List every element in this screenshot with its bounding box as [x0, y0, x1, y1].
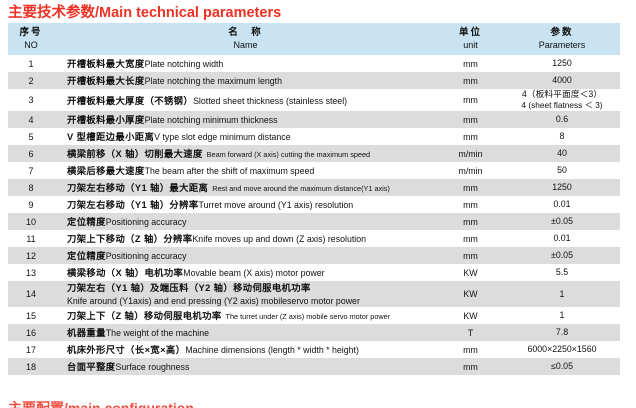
table-row: 7横梁后移最大速度The beam after the shift of max… [8, 162, 620, 179]
parameter-value: 7.8 [504, 327, 620, 338]
parameter-value: 40 [504, 148, 620, 159]
cell-name: 机器重量The weight of the machine [54, 324, 437, 341]
cell-unit: mm [437, 247, 504, 264]
table-row: 15刀架上下（Z 轴）移动伺服电机功率The turret under (Z a… [8, 307, 620, 324]
name-english: Slotted sheet thickness (stainless steel… [193, 96, 347, 106]
name-english: Rest and move around the maximum distanc… [212, 184, 390, 193]
table-row: 2开槽板料最大长度Plate notching the maximum leng… [8, 72, 620, 89]
column-header-parameters-en: Parameters [504, 39, 620, 51]
name-english: Beam forward (X axis) cutting the maximu… [207, 150, 370, 159]
name-english: The turret under (Z axis) mobile servo m… [226, 312, 391, 321]
technical-parameters-table: 序号 NO 名 称 Name 单位 unit 参数 Parameters 1开槽… [8, 23, 620, 375]
name-chinese: 刀架左右移动（Y1 轴）分辨率 [67, 200, 199, 210]
parameter-value: 1 [504, 289, 620, 300]
parameter-value: 1250 [504, 182, 620, 193]
name-chinese: 台面平整度 [67, 362, 116, 372]
name-english: Machine dimensions (length * width * hei… [185, 345, 359, 355]
cell-name: 横梁前移（X 轴）切削最大速度Beam forward (X axis) cut… [54, 145, 437, 162]
parameter-value: 0.01 [504, 199, 620, 210]
cell-no: 4 [8, 111, 54, 128]
name-chinese: 机床外形尺寸（长×宽×高） [67, 345, 185, 355]
cell-no: 3 [8, 89, 54, 111]
parameter-value: 0.01 [504, 233, 620, 244]
name-chinese: 开槽板料最大厚度（不锈钢） [67, 96, 193, 106]
parameter-value: 1 [504, 310, 620, 321]
cell-parameter: 1 [504, 307, 620, 324]
cell-parameter: ±0.05 [504, 247, 620, 264]
cell-no: 12 [8, 247, 54, 264]
column-header-unit-en: unit [437, 39, 504, 51]
table-header: 序号 NO 名 称 Name 单位 unit 参数 Parameters [8, 23, 620, 55]
table-row: 3开槽板料最大厚度（不锈钢）Slotted sheet thickness (s… [8, 89, 620, 111]
cell-no: 10 [8, 213, 54, 230]
name-english: Positioning accuracy [106, 217, 187, 227]
cell-name: 开槽板料最大宽度Plate notching width [54, 55, 437, 72]
name-chinese: 定位精度 [67, 217, 106, 227]
cell-unit: mm [437, 341, 504, 358]
cell-parameter: 1250 [504, 55, 620, 72]
cell-parameter: 0.01 [504, 196, 620, 213]
cell-unit: m/min [437, 145, 504, 162]
cell-name: 刀架左右移动（Y1 轴）最大距离Rest and move around the… [54, 179, 437, 196]
table-row: 8刀架左右移动（Y1 轴）最大距离Rest and move around th… [8, 179, 620, 196]
cell-name: 定位精度Positioning accuracy [54, 213, 437, 230]
cell-no: 13 [8, 264, 54, 281]
cell-parameter: 7.8 [504, 324, 620, 341]
cell-unit: m/min [437, 162, 504, 179]
name-chinese: 开槽板料最小厚度 [67, 115, 145, 125]
table-row: 9刀架左右移动（Y1 轴）分辨率Turret move around (Y1 a… [8, 196, 620, 213]
cell-name: 机床外形尺寸（长×宽×高）Machine dimensions (length … [54, 341, 437, 358]
cell-name: 台面平整度Surface roughness [54, 358, 437, 375]
name-chinese: 刀架上下移动（Z 轴）分辨率 [67, 234, 192, 244]
cell-unit: KW [437, 264, 504, 281]
cell-parameter: 0.6 [504, 111, 620, 128]
name-english: Knife around (Y1axis) and end pressing (… [67, 295, 433, 307]
cell-name: 横梁移动（X 轴）电机功率Movable beam (X axis) motor… [54, 264, 437, 281]
name-chinese: 开槽板料最大宽度 [67, 59, 145, 69]
name-chinese: 横梁移动（X 轴）电机功率 [67, 268, 183, 278]
cell-unit: mm [437, 179, 504, 196]
cell-parameter: ±0.05 [504, 213, 620, 230]
cell-name: 刀架上下移动（Z 轴）分辨率Knife moves up and down (Z… [54, 230, 437, 247]
cell-parameter: 5.5 [504, 264, 620, 281]
cell-name: 横梁后移最大速度The beam after the shift of maxi… [54, 162, 437, 179]
parameter-value: ±0.05 [504, 250, 620, 261]
cell-name: 刀架上下（Z 轴）移动伺服电机功率The turret under (Z axi… [54, 307, 437, 324]
table-row: 12定位精度Positioning accuracymm±0.05 [8, 247, 620, 264]
name-english: The beam after the shift of maximum spee… [145, 166, 315, 176]
cell-name: 定位精度Positioning accuracy [54, 247, 437, 264]
cell-no: 1 [8, 55, 54, 72]
cell-parameter: 4000 [504, 72, 620, 89]
name-chinese: 横梁前移（X 轴）切削最大速度 [67, 149, 203, 159]
parameter-value: ±0.05 [504, 216, 620, 227]
table-row: 11刀架上下移动（Z 轴）分辨率Knife moves up and down … [8, 230, 620, 247]
cell-name: V 型槽距边最小距离V type slot edge minimum dista… [54, 128, 437, 145]
table-row: 5V 型槽距边最小距离V type slot edge minimum dist… [8, 128, 620, 145]
table-row: 18台面平整度Surface roughnessmm≤0.05 [8, 358, 620, 375]
name-english: Turret move around (Y1 axis) resolution [199, 200, 354, 210]
cell-parameter: 0.01 [504, 230, 620, 247]
cell-parameter: 1 [504, 281, 620, 307]
cell-parameter: 1250 [504, 179, 620, 196]
cell-parameter: 50 [504, 162, 620, 179]
cell-no: 11 [8, 230, 54, 247]
cell-unit: mm [437, 72, 504, 89]
cell-no: 2 [8, 72, 54, 89]
cell-unit: mm [437, 128, 504, 145]
name-chinese: 刀架左右（Y1 轴）及端压料（Y2 轴）移动伺服电机功率 [67, 283, 311, 293]
table-row: 4开槽板料最小厚度Plate notching minimum thicknes… [8, 111, 620, 128]
cell-no: 14 [8, 281, 54, 307]
cell-no: 6 [8, 145, 54, 162]
name-english: Movable beam (X axis) motor power [183, 268, 324, 278]
cell-name: 开槽板料最大厚度（不锈钢）Slotted sheet thickness (st… [54, 89, 437, 111]
column-header-no: 序号 NO [8, 23, 54, 55]
page-title: 主要技术参数/Main technical parameters [8, 1, 281, 22]
name-chinese: 定位精度 [67, 251, 106, 261]
parameter-value: 0.6 [504, 114, 620, 125]
cell-unit: mm [437, 358, 504, 375]
cell-no: 5 [8, 128, 54, 145]
name-chinese: 刀架上下（Z 轴）移动伺服电机功率 [67, 311, 222, 321]
parameter-value-secondary: 4 (sheet flatness ＜ 3) [504, 100, 620, 111]
table-row: 14刀架左右（Y1 轴）及端压料（Y2 轴）移动伺服电机功率Knife arou… [8, 281, 620, 307]
cell-name: 刀架左右（Y1 轴）及端压料（Y2 轴）移动伺服电机功率Knife around… [54, 281, 437, 307]
cell-no: 8 [8, 179, 54, 196]
parameter-value: 1250 [504, 58, 620, 69]
cell-no: 15 [8, 307, 54, 324]
name-chinese: 横梁后移最大速度 [67, 166, 145, 176]
parameter-value: 4000 [504, 75, 620, 86]
table-row: 13横梁移动（X 轴）电机功率Movable beam (X axis) mot… [8, 264, 620, 281]
name-chinese: 开槽板料最大长度 [67, 76, 145, 86]
cell-unit: T [437, 324, 504, 341]
cell-unit: KW [437, 307, 504, 324]
cell-unit: mm [437, 213, 504, 230]
cell-no: 17 [8, 341, 54, 358]
parameter-value: ≤0.05 [504, 361, 620, 372]
cell-no: 18 [8, 358, 54, 375]
cell-name: 开槽板料最大长度Plate notching the maximum lengt… [54, 72, 437, 89]
table-row: 1开槽板料最大宽度Plate notching widthmm1250 [8, 55, 620, 72]
column-header-name-en: Name [54, 39, 437, 51]
column-header-no-en: NO [8, 39, 54, 51]
footer-partial-heading: 主要配置/main configuration [8, 400, 194, 408]
cell-parameter: 40 [504, 145, 620, 162]
cell-unit: KW [437, 281, 504, 307]
name-chinese: 机器重量 [67, 328, 106, 338]
table-body: 1开槽板料最大宽度Plate notching widthmm12502开槽板料… [8, 55, 620, 375]
name-english: Plate notching minimum thickness [145, 115, 278, 125]
cell-no: 16 [8, 324, 54, 341]
column-header-parameters: 参数 Parameters [504, 23, 620, 55]
spec-sheet-page: 主要技术参数/Main technical parameters 序号 NO 名… [0, 0, 636, 408]
cell-unit: mm [437, 55, 504, 72]
column-header-name: 名 称 Name [54, 23, 437, 55]
parameter-value: 5.5 [504, 267, 620, 278]
table-row: 16机器重量The weight of the machineT7.8 [8, 324, 620, 341]
name-english: Positioning accuracy [106, 251, 187, 261]
cell-parameter: 8 [504, 128, 620, 145]
parameter-value: 4（板料平面度＜3） [504, 89, 620, 100]
cell-unit: mm [437, 230, 504, 247]
column-header-parameters-cn: 参数 [504, 26, 620, 39]
column-header-unit: 单位 unit [437, 23, 504, 55]
name-chinese: V 型槽距边最小距离 [67, 132, 154, 142]
cell-name: 开槽板料最小厚度Plate notching minimum thickness [54, 111, 437, 128]
name-english: V type slot edge minimum distance [154, 132, 290, 142]
name-chinese: 刀架左右移动（Y1 轴）最大距离 [67, 183, 208, 193]
name-english: Surface roughness [116, 362, 190, 372]
cell-parameter: 6000×2250×1560 [504, 341, 620, 358]
name-english: The weight of the machine [106, 328, 209, 338]
name-english: Knife moves up and down (Z axis) resolut… [192, 234, 366, 244]
cell-name: 刀架左右移动（Y1 轴）分辨率Turret move around (Y1 ax… [54, 196, 437, 213]
cell-unit: mm [437, 196, 504, 213]
cell-parameter: ≤0.05 [504, 358, 620, 375]
cell-unit: mm [437, 89, 504, 111]
column-header-unit-cn: 单位 [437, 26, 504, 39]
table-row: 10定位精度Positioning accuracymm±0.05 [8, 213, 620, 230]
column-header-no-cn: 序号 [8, 26, 54, 39]
column-header-name-cn: 名 称 [54, 26, 437, 39]
cell-unit: mm [437, 111, 504, 128]
table-header-row: 序号 NO 名 称 Name 单位 unit 参数 Parameters [8, 23, 620, 55]
table-row: 6横梁前移（X 轴）切削最大速度Beam forward (X axis) cu… [8, 145, 620, 162]
table-row: 17机床外形尺寸（长×宽×高）Machine dimensions (lengt… [8, 341, 620, 358]
cell-parameter: 4（板料平面度＜3）4 (sheet flatness ＜ 3) [504, 89, 620, 111]
parameter-value: 50 [504, 165, 620, 176]
parameter-value: 8 [504, 131, 620, 142]
cell-no: 9 [8, 196, 54, 213]
parameter-value: 6000×2250×1560 [504, 344, 620, 355]
name-english: Plate notching the maximum length [145, 76, 282, 86]
name-english: Plate notching width [145, 59, 224, 69]
cell-no: 7 [8, 162, 54, 179]
